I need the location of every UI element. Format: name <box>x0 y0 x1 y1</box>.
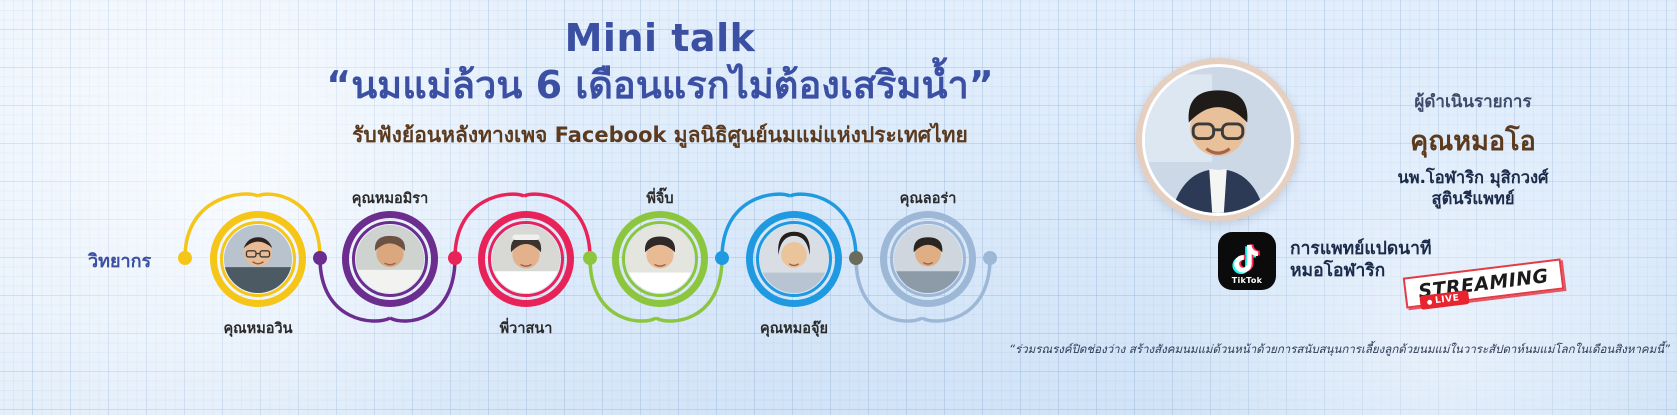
page-title: Mini talk <box>170 18 1150 60</box>
host-full-name: นพ.โอฬาริก มุสิกวงศ์ <box>1308 167 1638 188</box>
avatar <box>760 225 828 293</box>
host-nickname: คุณหมอโอ <box>1308 119 1638 162</box>
footer-note: “ร่วมรณรงค์ปิดช่องว่าง สร้างสังคมนมแม่ด้… <box>840 341 1670 359</box>
avatar <box>224 225 292 293</box>
host-avatar <box>1136 58 1300 222</box>
avatar <box>492 225 560 293</box>
host-portrait <box>1145 67 1291 213</box>
portrait-6 <box>894 225 962 293</box>
speaker-name-3: พี่วาสนา <box>436 317 616 340</box>
speaker-avatar-ring-2 <box>342 211 438 307</box>
speaker-name-5: คุณหมอจุ๊ย <box>704 317 884 340</box>
speaker-avatar-ring-4 <box>612 211 708 307</box>
headline-quote: “นมแม่ล้วน 6 เดือนแรกไม่ต้องเสริมน้ำ” <box>170 62 1150 110</box>
speaker-name-6: คุณลอร่า <box>838 187 1018 210</box>
headline-subtitle: รับฟังย้อนหลังทางเพจ Facebook มูลนิธิศูน… <box>170 123 1150 148</box>
speaker-name-2: คุณหมอมิรา <box>300 187 480 210</box>
speakers-section-label: วิทยากร <box>88 246 151 275</box>
speaker-name-1: คุณหมอวิน <box>168 317 348 340</box>
host-specialty: สูตินรีแพทย์ <box>1308 188 1638 209</box>
portrait-2 <box>356 225 424 293</box>
speaker-card-2[interactable]: คุณหมอมิรา <box>330 211 450 307</box>
portrait-4 <box>626 225 694 293</box>
live-label: LIVE <box>1434 293 1460 306</box>
host-role: ผู้ดำเนินรายการ <box>1308 88 1638 115</box>
speaker-avatar-ring-1 <box>210 211 306 307</box>
speaker-avatar-ring-5 <box>746 211 842 307</box>
speaker-name-4: พี่จิ๊บ <box>570 187 750 210</box>
portrait-1 <box>224 225 292 293</box>
promo-banner: Mini talk “นมแม่ล้วน 6 เดือนแรกไม่ต้องเส… <box>0 0 1677 415</box>
tiktok-icon[interactable]: TikTok <box>1218 232 1276 290</box>
speaker-card-4[interactable]: พี่จิ๊บ <box>600 211 720 307</box>
host-info: ผู้ดำเนินรายการ คุณหมอโอ นพ.โอฬาริก มุสิ… <box>1308 88 1638 210</box>
tiktok-label: TikTok <box>1232 276 1263 285</box>
channel-name-line1: การแพทย์แปดนาที <box>1290 239 1432 261</box>
live-dot-icon <box>1427 299 1433 305</box>
speaker-card-6[interactable]: คุณลอร่า <box>868 211 988 307</box>
speaker-card-5[interactable]: คุณหมอจุ๊ย <box>734 211 854 307</box>
avatar <box>356 225 424 293</box>
speaker-card-1[interactable]: คุณหมอวิน <box>198 211 318 307</box>
portrait-5 <box>760 225 828 293</box>
speaker-avatar-ring-3 <box>478 211 574 307</box>
headline-block: Mini talk “นมแม่ล้วน 6 เดือนแรกไม่ต้องเส… <box>170 18 1150 148</box>
channel-row[interactable]: TikTok การแพทย์แปดนาที หมอโอฬาริก <box>1218 232 1432 290</box>
portrait-3 <box>492 225 560 293</box>
speaker-card-3[interactable]: พี่วาสนา <box>466 211 586 307</box>
speaker-avatar-ring-6 <box>880 211 976 307</box>
avatar <box>894 225 962 293</box>
avatar <box>626 225 694 293</box>
